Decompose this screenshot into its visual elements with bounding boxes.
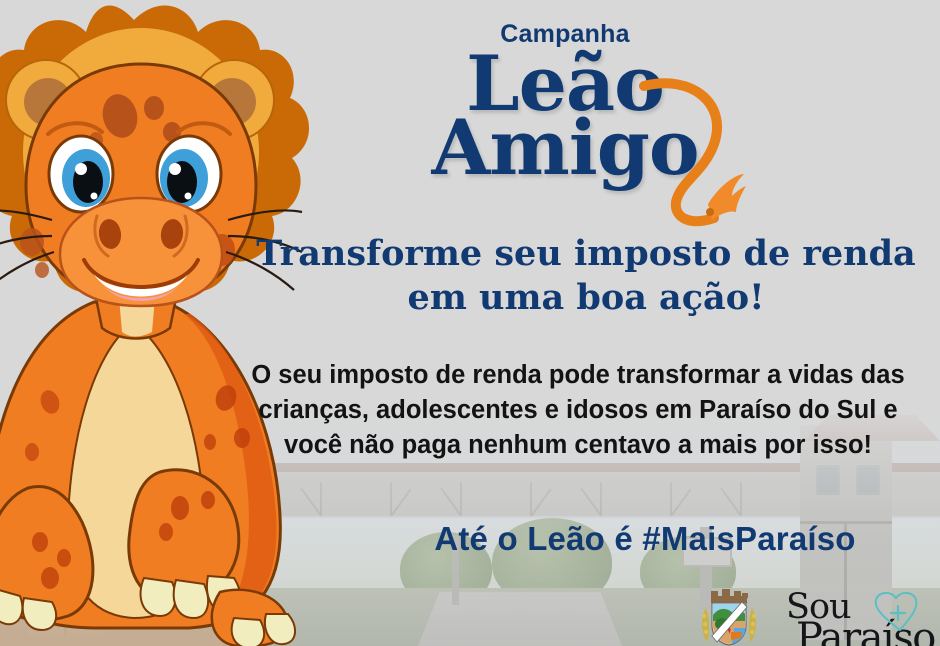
body-line-1: O seu imposto de renda pode transformar … (228, 358, 928, 393)
lion-mascot-illustration (0, 2, 314, 646)
municipal-coat-of-arms (698, 588, 760, 646)
body-copy: O seu imposto de renda pode transformar … (228, 358, 928, 464)
body-line-3: você não paga nenhum centavo a mais por … (228, 428, 928, 463)
tagline: Até o Leão é #MaisParaíso (360, 520, 930, 558)
heart-plus-icon (872, 592, 928, 634)
headline-line-1: Transforme seu imposto de renda (250, 232, 922, 276)
campaign-logo: Campanha Leão Amigo (400, 22, 730, 212)
lion-tail-icon (636, 78, 746, 228)
headline: Transforme seu imposto de renda em uma b… (250, 232, 922, 320)
body-line-2: crianças, adolescentes e idosos em Paraí… (228, 393, 928, 428)
sou-paraiso-logo: Sou Paraíso PARAÍSO DO SUL (786, 592, 940, 646)
poster-canvas: Campanha Leão Amigo Transforme seu impos… (0, 0, 940, 646)
headline-line-2: em uma boa ação! (250, 276, 922, 320)
